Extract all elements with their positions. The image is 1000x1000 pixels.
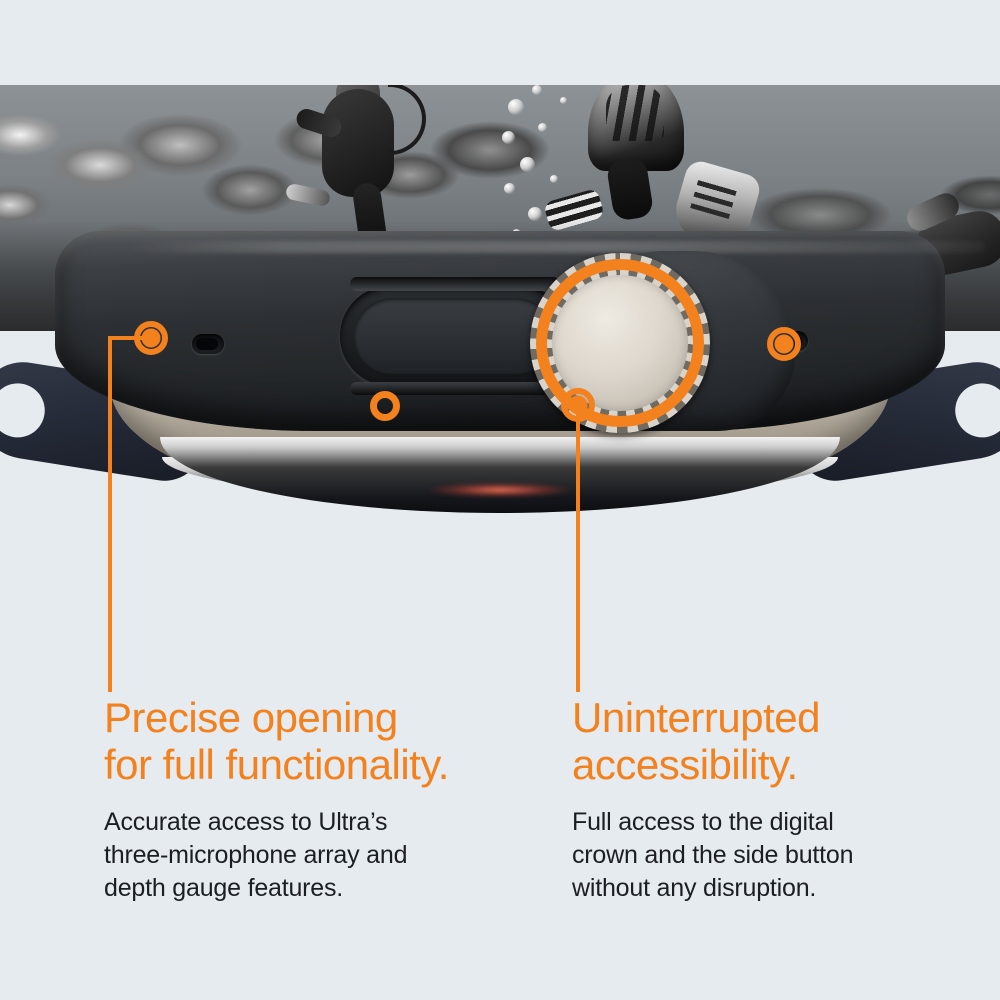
speaker-cutout-marker <box>370 391 400 421</box>
watch-underside <box>160 437 840 513</box>
body-line-3: depth gauge features. <box>104 872 534 905</box>
product-photo-watch-case <box>0 225 1000 535</box>
callout-body-right: Full access to the digital crown and the… <box>572 806 972 905</box>
regulator-hose <box>388 85 426 155</box>
callout-text-block-right: Uninterrupted accessibility. Full access… <box>572 694 972 905</box>
callout-body-left: Accurate access to Ultra’s three-microph… <box>104 806 534 905</box>
callout-heading-left: Precise opening for full functionality. <box>104 694 534 788</box>
heart-rate-sensor-glow <box>430 483 570 497</box>
heading-line-1: Uninterrupted <box>572 694 972 741</box>
heading-line-1: Precise opening <box>104 694 534 741</box>
heading-line-2: for full functionality. <box>104 741 534 788</box>
depth-gauge-marker <box>134 321 168 355</box>
body-line-2: crown and the side button <box>572 839 972 872</box>
body-line-1: Accurate access to Ultra’s <box>104 806 534 839</box>
digital-crown-marker <box>561 388 595 422</box>
heading-line-2: accessibility. <box>572 741 972 788</box>
callout-text-block-left: Precise opening for full functionality. … <box>104 694 534 905</box>
cutout-inner <box>354 298 554 374</box>
body-line-2: three-microphone array and <box>104 839 534 872</box>
band-hole-right <box>951 380 1000 442</box>
callout-line-vertical-left <box>108 336 112 692</box>
callout-heading-right: Uninterrupted accessibility. <box>572 694 972 788</box>
body-line-1: Full access to the digital <box>572 806 972 839</box>
side-button-marker <box>767 327 801 361</box>
callout-line-vertical-right <box>576 404 580 692</box>
protective-case-bumper <box>55 231 945 431</box>
band-hole-left <box>0 380 49 442</box>
diver-torso <box>322 89 394 197</box>
body-line-3: without any disruption. <box>572 872 972 905</box>
case-highlight <box>125 241 985 253</box>
depth-gauge-port-left <box>192 334 224 354</box>
port-opening <box>196 338 218 350</box>
marketing-slide: Precise opening for full functionality. … <box>0 0 1000 1000</box>
